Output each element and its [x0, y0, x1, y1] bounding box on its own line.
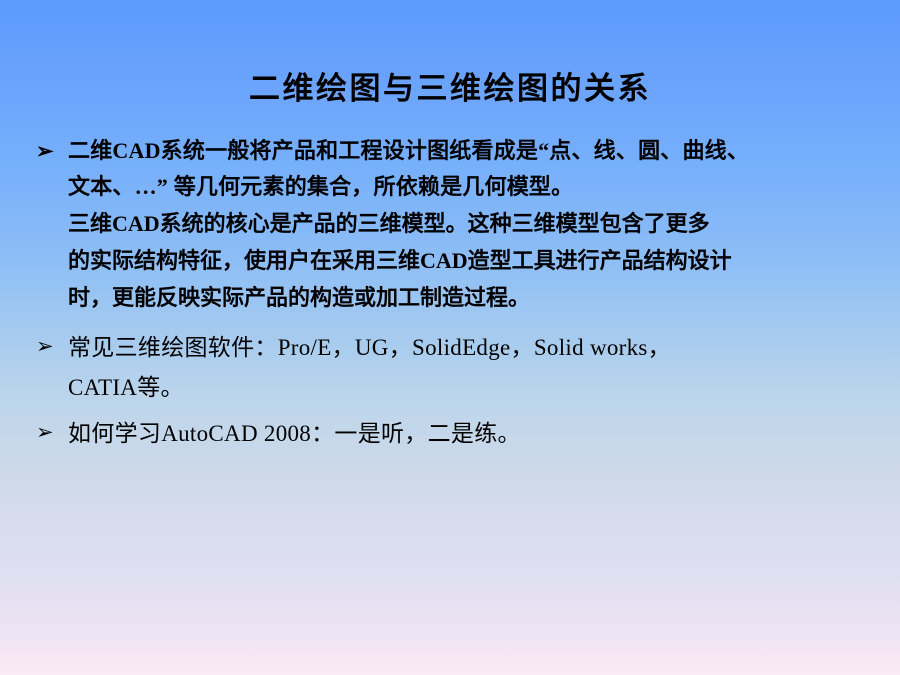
paragraph-item-1: 三维CAD系统的核心是产品的三维模型。这种三维模型包含了更多 的实际结构特征，使… — [30, 205, 875, 316]
bullet-1-line-2: 文本、…” 等几何元素的集合，所依赖是几何模型。 — [68, 169, 875, 205]
bullet-item-3: ➢ 如何学习AutoCAD 2008：一是听，二是练。 — [30, 414, 875, 454]
bullet-marker-icon: ➢ — [36, 133, 62, 169]
bullet-3-line-1: 如何学习AutoCAD 2008：一是听，二是练。 — [68, 414, 875, 454]
bullet-item-1: ➢ 二维CAD系统一般将产品和工程设计图纸看成是“点、线、圆、曲线、 文本、…”… — [30, 133, 875, 205]
spacer — [30, 316, 875, 328]
slide-body: ➢ 二维CAD系统一般将产品和工程设计图纸看成是“点、线、圆、曲线、 文本、…”… — [30, 133, 875, 454]
slide-canvas: 二维绘图与三维绘图的关系 ➢ 二维CAD系统一般将产品和工程设计图纸看成是“点、… — [0, 0, 900, 675]
bullet-item-2: ➢ 常见三维绘图软件：Pro/E，UG，SolidEdge，Solid work… — [30, 328, 875, 408]
bullet-2-line-2: CATIA等。 — [68, 368, 875, 408]
paragraph-1-line-3: 时，更能反映实际产品的构造或加工制造过程。 — [68, 279, 875, 316]
paragraph-1-line-1: 三维CAD系统的核心是产品的三维模型。这种三维模型包含了更多 — [68, 205, 875, 242]
paragraph-1-line-2: 的实际结构特征，使用户在采用三维CAD造型工具进行产品结构设计 — [68, 242, 875, 279]
bullet-marker-icon: ➢ — [36, 328, 62, 364]
slide-title: 二维绘图与三维绘图的关系 — [0, 72, 900, 106]
bullet-marker-icon: ➢ — [36, 414, 62, 450]
bullet-2-line-1: 常见三维绘图软件：Pro/E，UG，SolidEdge，Solid works， — [68, 328, 875, 368]
bullet-1-line-1: 二维CAD系统一般将产品和工程设计图纸看成是“点、线、圆、曲线、 — [68, 133, 875, 169]
